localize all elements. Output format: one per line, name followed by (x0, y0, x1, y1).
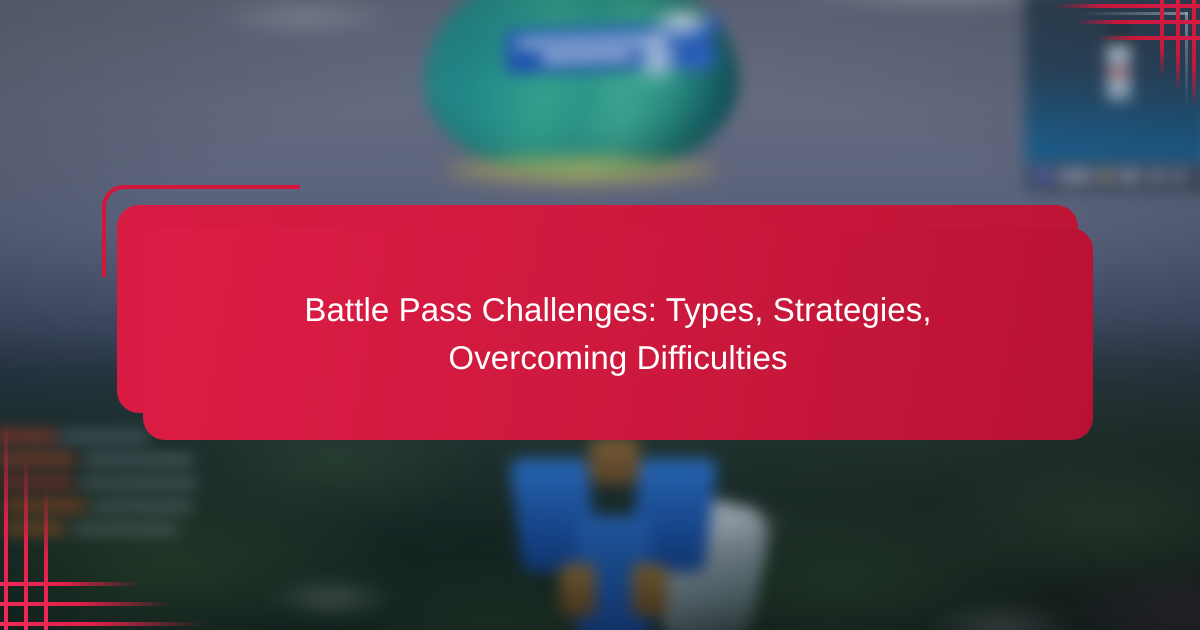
page-title: Battle Pass Challenges: Types, Strategie… (238, 286, 998, 382)
title-card-front-panel: Battle Pass Challenges: Types, Strategie… (143, 228, 1093, 440)
share-card-canvas: Battle Pass Challenges: Types, Strategie… (0, 0, 1200, 630)
